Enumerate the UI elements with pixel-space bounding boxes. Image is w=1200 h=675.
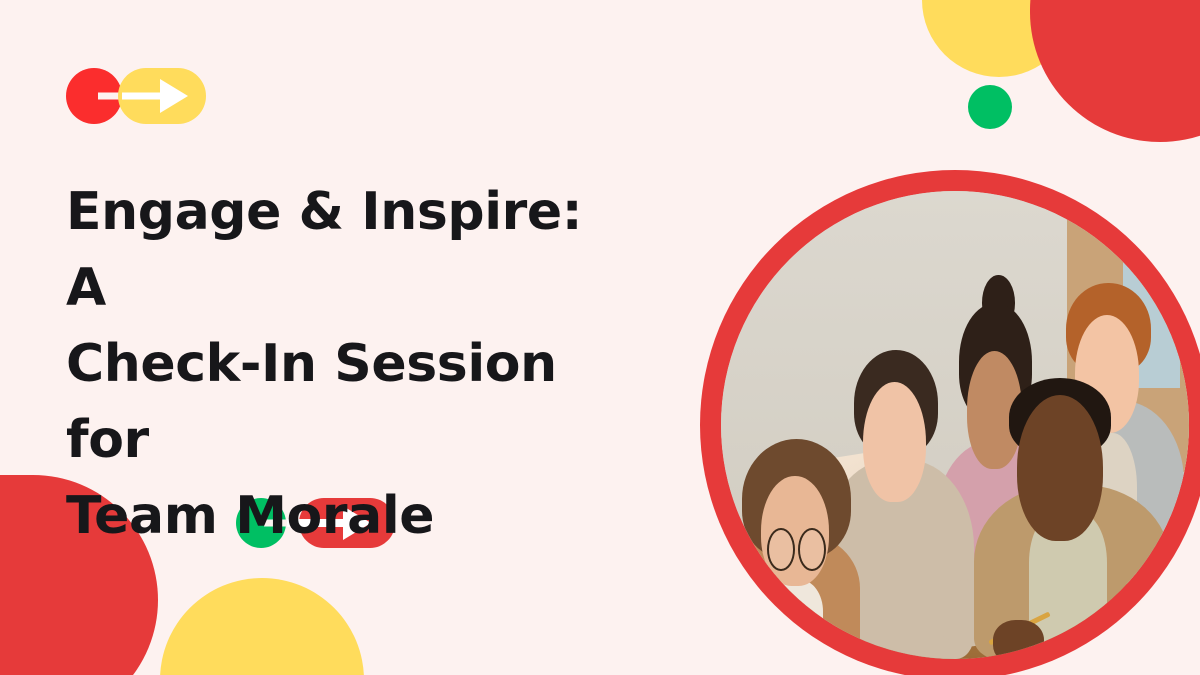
photo-circle-frame (700, 170, 1200, 675)
slide-canvas: Engage & Inspire: A Check-In Session for… (0, 0, 1200, 675)
person-hands (993, 620, 1044, 659)
yellow-arrow-pill-icon (118, 68, 206, 124)
glasses-icon-right (798, 528, 826, 571)
arrow-head-icon (160, 79, 188, 113)
green-dot-decoration (968, 85, 1012, 129)
slide-title: Engage & Inspire: A Check-In Session for… (66, 175, 626, 555)
glasses-icon-left (767, 528, 795, 571)
person-shirt (767, 580, 823, 659)
photo-scene (721, 191, 1189, 659)
yellow-circle-bottom-decoration (160, 578, 364, 675)
person-head (863, 382, 926, 503)
top-left-arrow-badge (66, 68, 206, 124)
red-notched-circle-icon (66, 68, 122, 124)
photo-person-bearded-man (974, 378, 1171, 659)
person-head (1017, 395, 1103, 541)
photo-person-glasses-woman (730, 397, 870, 659)
team-photo (721, 191, 1189, 659)
red-rounded-top-right-decoration (1030, 0, 1200, 142)
